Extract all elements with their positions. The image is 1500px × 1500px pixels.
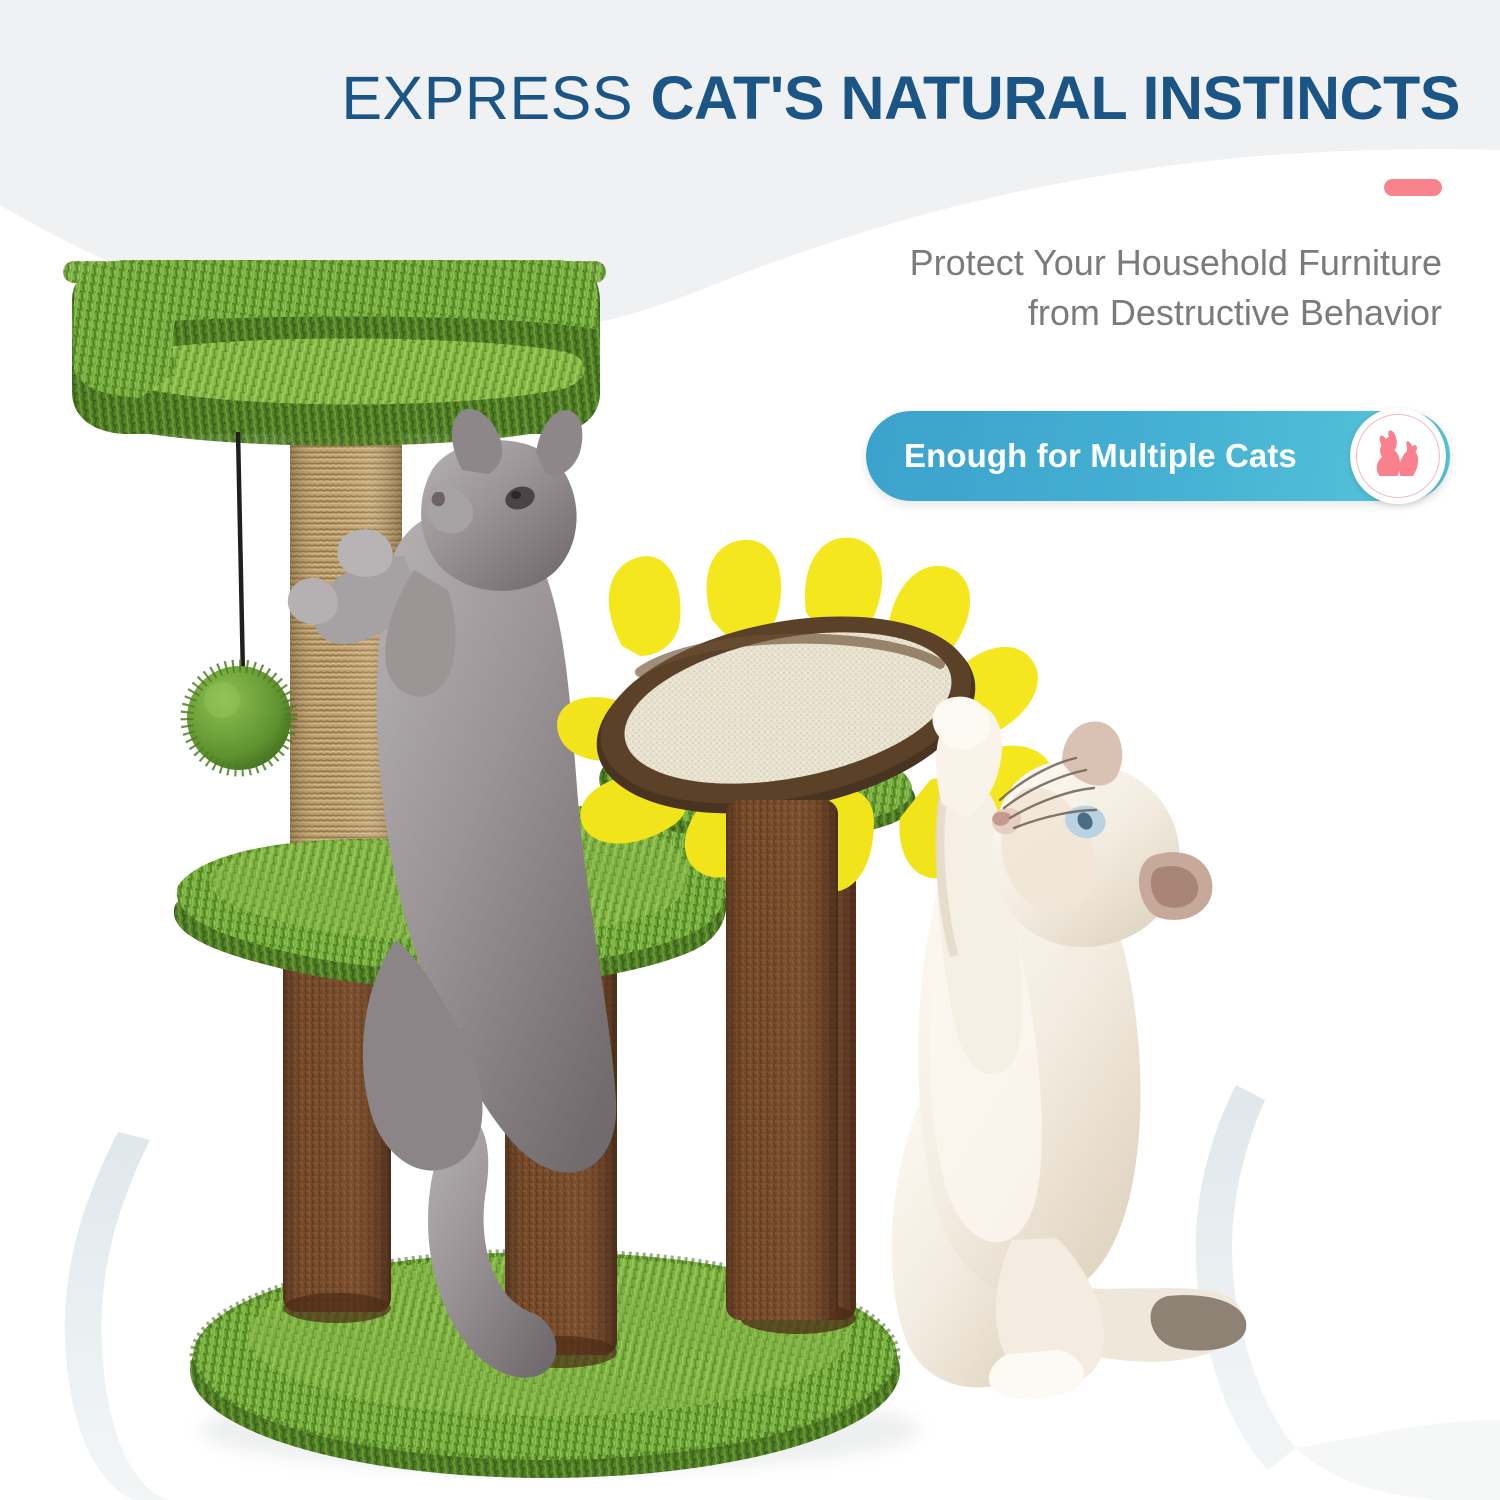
multiple-cats-badge[interactable]: Enough for Multiple Cats (866, 411, 1450, 501)
two-cats-icon (1350, 408, 1446, 504)
sunflower-support-post (726, 800, 838, 1320)
cream-ragdoll-cat (892, 697, 1247, 1400)
hanging-pom-pom-toy (187, 432, 291, 770)
subtitle-line-2: from Destructive Behavior (682, 288, 1442, 338)
headline: EXPRESS CAT'S NATURAL INSTINCTS (60, 68, 1460, 129)
headline-part-1: EXPRESS (341, 64, 650, 132)
subtitle-line-1: Protect Your Household Furniture (682, 238, 1442, 288)
badge-label: Enough for Multiple Cats (904, 437, 1297, 475)
subtitle: Protect Your Household Furniture from De… (682, 238, 1442, 337)
toy-string (238, 432, 243, 676)
product-image (0, 0, 1500, 1500)
product-banner: EXPRESS CAT'S NATURAL INSTINCTS Protect … (0, 0, 1500, 1500)
accent-dash (1384, 179, 1442, 196)
top-bed-platform (72, 260, 600, 446)
cat-front-paw (989, 1350, 1084, 1399)
headline-part-2: CAT'S NATURAL INSTINCTS (650, 64, 1460, 132)
icon-ring (1356, 414, 1440, 498)
